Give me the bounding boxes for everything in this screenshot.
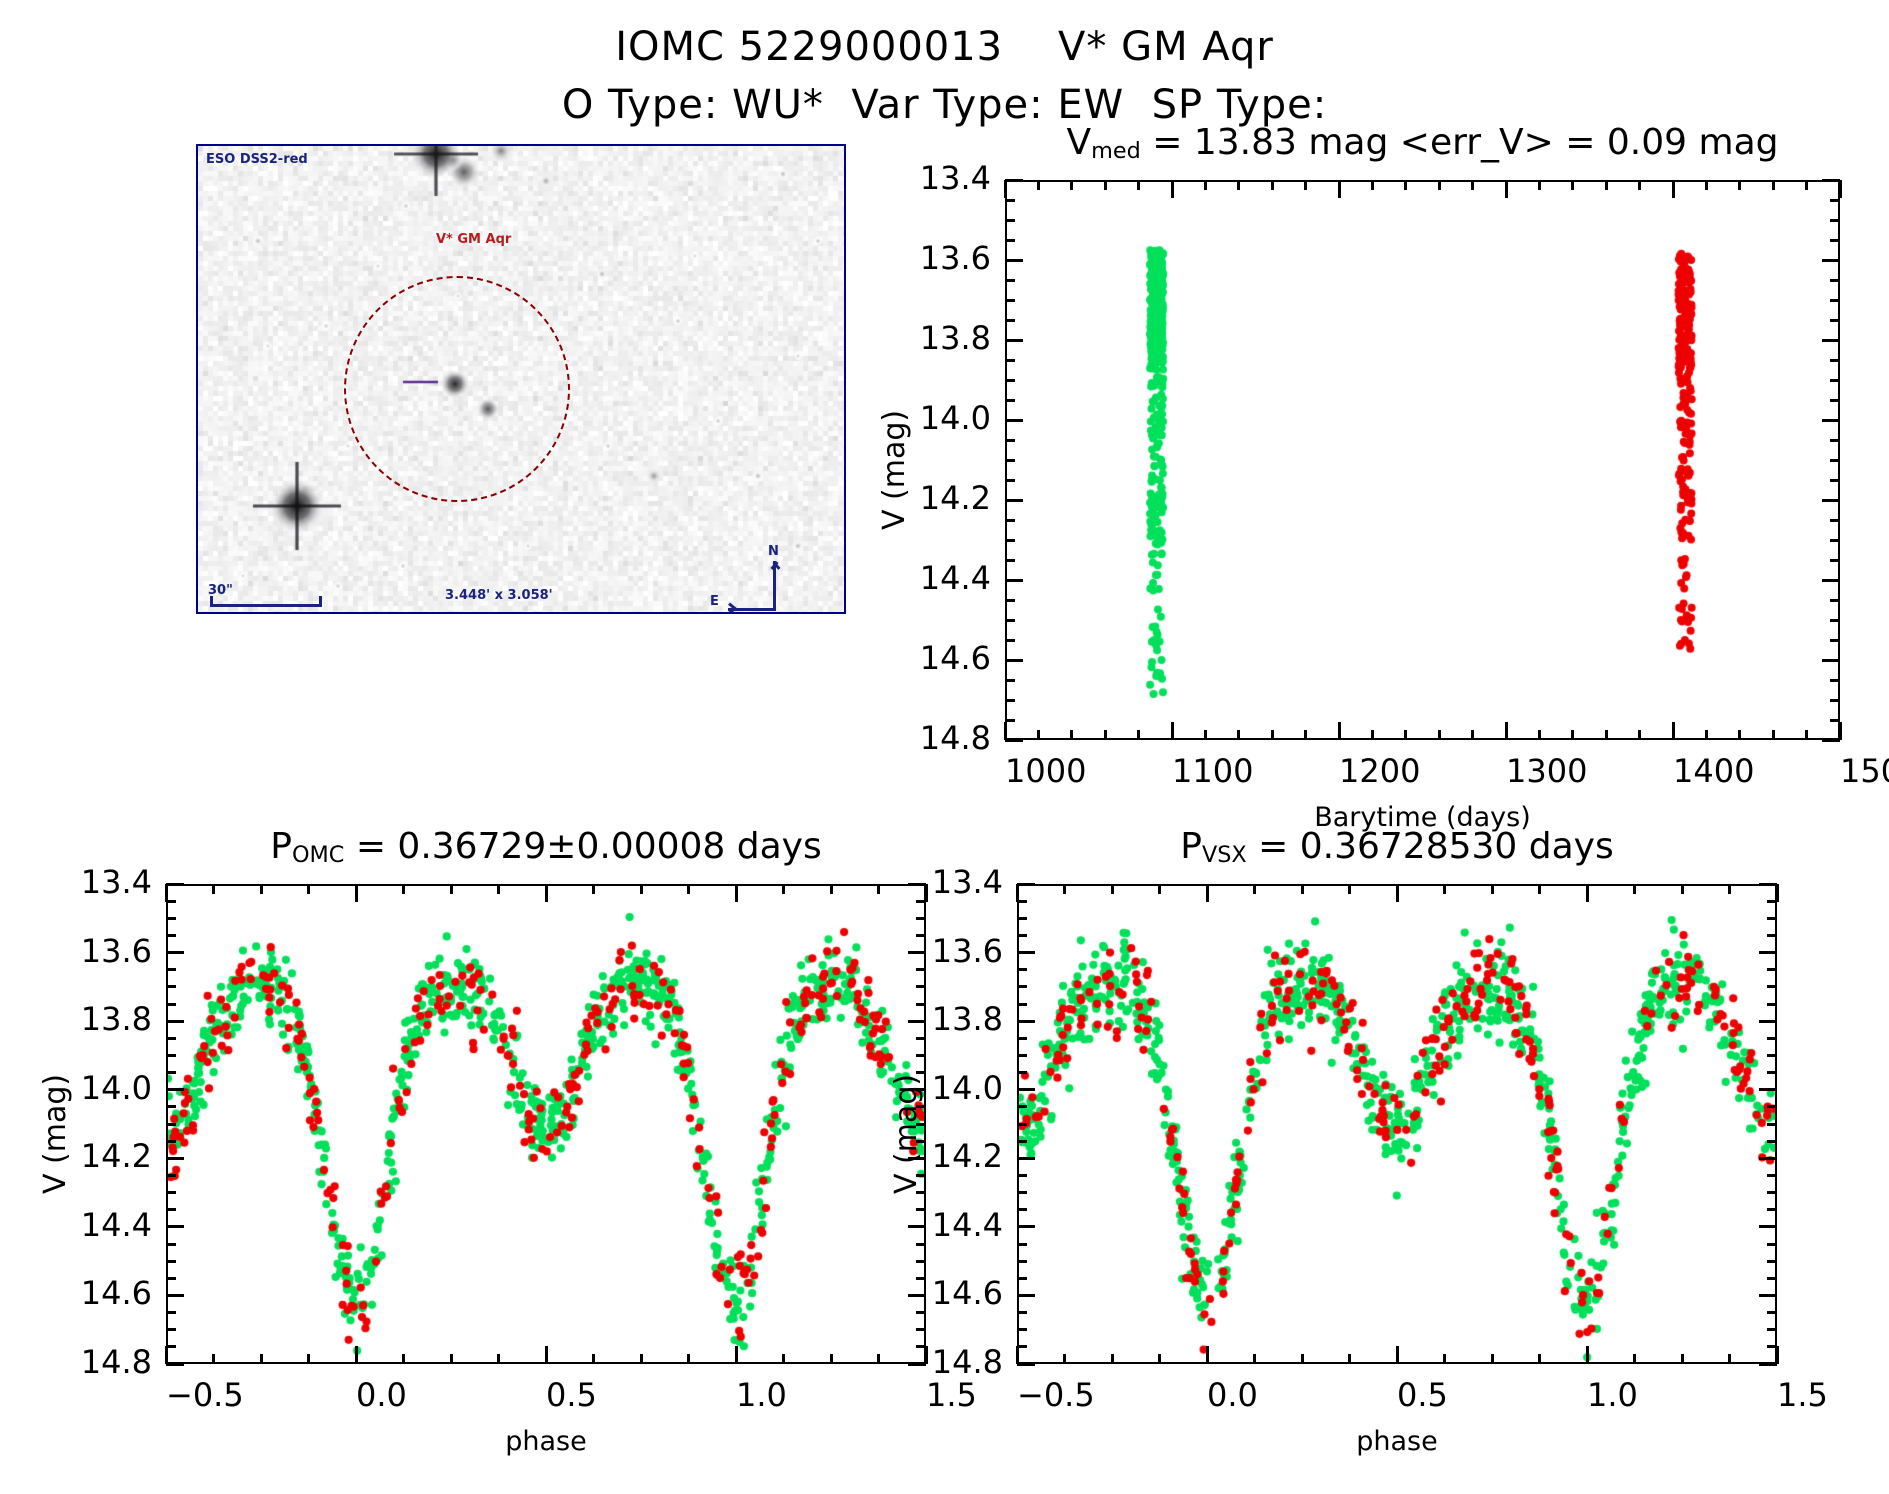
lightcurve-plot-area[interactable] [1005, 180, 1840, 740]
x-tick-label: 0.0 [1207, 1376, 1258, 1414]
x-tick-label: −0.5 [166, 1376, 244, 1414]
phase-omc-title: POMC = 0.36729±0.00008 days [166, 826, 926, 868]
x-tick-label: 1500 [1840, 752, 1889, 790]
survey-label: ESO DSS2-red [206, 152, 308, 167]
y-tick-label: 14.6 [932, 1274, 1003, 1312]
x-tick-label: 1.5 [926, 1376, 977, 1414]
y-tick-label: 14.0 [920, 399, 991, 437]
y-tick-label: 14.2 [81, 1137, 152, 1175]
y-tick-label: 13.8 [932, 1000, 1003, 1038]
scale-bar [210, 604, 322, 607]
phase-vsx-title-sub: VSX [1202, 842, 1247, 868]
y-tick-label: 13.6 [81, 932, 152, 970]
y-tick-label: 14.8 [932, 1343, 1003, 1381]
compass-north-label: N [768, 544, 779, 559]
x-tick-label: 1300 [1506, 752, 1587, 790]
target-aperture-circle [344, 276, 570, 502]
x-tick-label: 0.5 [546, 1376, 597, 1414]
lightcurve-datapoints [1007, 182, 1838, 738]
lightcurve-y-axis-label: V (mag) [877, 410, 912, 530]
phase-vsx-datapoints [1019, 886, 1775, 1362]
page-subtitle: O Type: WU* Var Type: EW SP Type: [0, 76, 1889, 134]
field-size-label: 3.448' x 3.058' [445, 588, 553, 603]
y-tick-label: 14.8 [81, 1343, 152, 1381]
page-title: IOMC 5229000013 V* GM Aqr [0, 18, 1889, 76]
phase-omc-x-axis-label: phase [505, 1426, 586, 1457]
phase-omc-title-sub: OMC [292, 842, 344, 868]
y-tick-label: 14.0 [932, 1069, 1003, 1107]
phase-vsx-title: PVSX = 0.36728530 days [1017, 826, 1777, 868]
phase-vsx-title-rest: = 0.36728530 days [1247, 826, 1614, 867]
phase-vsx-title-prefix: P [1180, 826, 1202, 867]
finder-chart[interactable]: ESO DSS2-red V* GM Aqr 30" 3.448' x 3.05… [196, 144, 846, 614]
lightcurve-title-sub: med [1091, 138, 1141, 164]
y-tick-label: 14.6 [920, 639, 991, 677]
figure-title-block: IOMC 5229000013 V* GM Aqr O Type: WU* Va… [0, 18, 1889, 134]
object-label: V* GM Aqr [436, 232, 511, 247]
x-tick-label: 1100 [1172, 752, 1253, 790]
y-tick-label: 13.6 [932, 932, 1003, 970]
x-tick-label: 1.0 [736, 1376, 787, 1414]
y-tick-label: 13.4 [81, 863, 152, 901]
x-tick-label: 1.5 [1777, 1376, 1828, 1414]
x-tick-label: 1400 [1673, 752, 1754, 790]
y-tick-label: 13.4 [920, 159, 991, 197]
y-tick-label: 13.6 [920, 239, 991, 277]
y-tick-label: 14.6 [81, 1274, 152, 1312]
y-tick-label: 13.8 [920, 319, 991, 357]
phase-vsx-plot-area[interactable] [1017, 884, 1777, 1364]
compass-east-label: E [710, 594, 719, 609]
phase-omc-datapoints [168, 886, 924, 1362]
y-tick-label: 14.8 [920, 719, 991, 757]
phase-omc-plot-area[interactable] [166, 884, 926, 1364]
y-tick-label: 14.4 [81, 1206, 152, 1244]
y-tick-label: 14.2 [932, 1137, 1003, 1175]
y-tick-label: 14.2 [920, 479, 991, 517]
phase-vsx-x-axis-label: phase [1356, 1426, 1437, 1457]
scale-bar-tick-right [319, 596, 322, 607]
x-tick-label: 0.5 [1397, 1376, 1448, 1414]
phase-omc-title-rest: = 0.36729±0.00008 days [344, 826, 821, 867]
y-tick-label: 14.4 [920, 559, 991, 597]
y-tick-label: 13.8 [81, 1000, 152, 1038]
x-tick-label: 1200 [1339, 752, 1420, 790]
phase-omc-title-prefix: P [270, 826, 292, 867]
y-tick-label: 14.4 [932, 1206, 1003, 1244]
phase-omc-y-axis-label: V (mag) [38, 1074, 73, 1194]
y-tick-label: 14.0 [81, 1069, 152, 1107]
lightcurve-x-axis-label: Barytime (days) [1314, 802, 1531, 833]
y-tick-label: 13.4 [932, 863, 1003, 901]
x-tick-label: 1000 [1005, 752, 1086, 790]
x-tick-label: 0.0 [356, 1376, 407, 1414]
scale-bar-tick-left [210, 596, 213, 607]
x-tick-label: 1.0 [1587, 1376, 1638, 1414]
x-tick-label: −0.5 [1017, 1376, 1095, 1414]
